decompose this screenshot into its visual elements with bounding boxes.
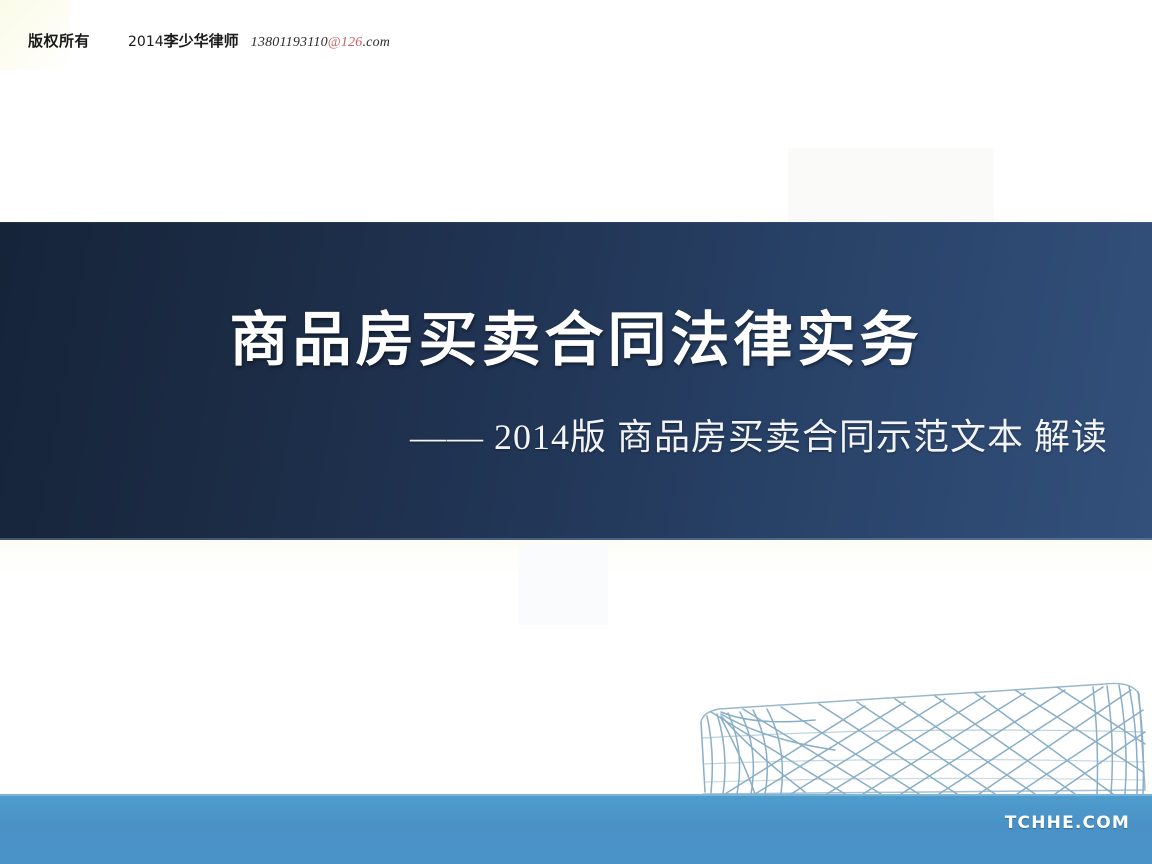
author-name: 李少华律师 — [164, 32, 239, 50]
email-tld-part: .com — [362, 35, 390, 50]
slide-subtitle: —— 2014版 商品房买卖合同示范文本 解读 — [0, 408, 1152, 460]
background-tint-right-band — [788, 148, 994, 226]
author-year: 2014 — [128, 34, 164, 50]
title-banner: 商品房买卖合同法律实务 —— 2014版 商品房买卖合同示范文本 解读 — [0, 222, 1152, 540]
footer-bar: TCHHE.COM — [0, 794, 1152, 864]
site-logo-text: TCHHE.COM — [1005, 813, 1130, 833]
background-tint-wash — [0, 540, 1152, 580]
birds-nest-stadium-illustration — [695, 672, 1152, 800]
author-email: 13801193110@126.com — [251, 35, 390, 51]
presentation-slide: 版权所有 2014李少华律师 13801193110@126.com 商品房买卖… — [0, 0, 1152, 864]
slide-title: 商品房买卖合同法律实务 — [0, 292, 1152, 377]
copyright-header: 版权所有 2014李少华律师 13801193110@126.com — [28, 30, 390, 51]
background-tint-lower-block — [518, 545, 608, 625]
email-user-part: 13801193110 — [251, 35, 328, 50]
email-domain-part: @126 — [328, 35, 363, 50]
author-credit: 2014李少华律师 — [128, 30, 239, 51]
copyright-label: 版权所有 — [28, 30, 90, 51]
